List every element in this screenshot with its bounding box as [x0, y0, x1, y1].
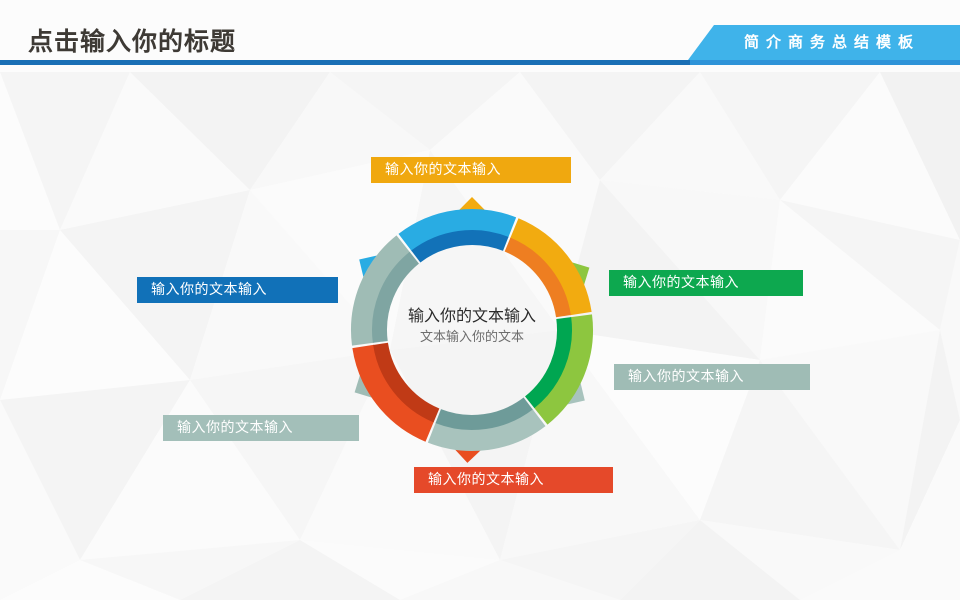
header-ribbon-label: 简介商务总结模板 — [688, 25, 960, 60]
callout-left-blue[interactable]: 输入你的文本输入 — [137, 277, 338, 303]
slide-canvas: 点击输入你的标题 简介商务总结模板 输入你的文本输入 文本输入你的文本 输入你的… — [0, 0, 960, 600]
inner-sector-left-blue[interactable] — [416, 238, 506, 257]
center-subtitle: 文本输入你的文本 — [362, 328, 582, 348]
callout-bottom-red[interactable]: 输入你的文本输入 — [414, 467, 613, 493]
header-rule-accent — [690, 60, 960, 65]
callout-left-teal[interactable]: 输入你的文本输入 — [163, 415, 359, 441]
center-title: 输入你的文本输入 — [362, 305, 582, 327]
callout-right-teal[interactable]: 输入你的文本输入 — [614, 364, 810, 390]
callout-top[interactable]: 输入你的文本输入 — [371, 157, 571, 183]
page-title: 点击输入你的标题 — [28, 22, 236, 58]
slide-header: 点击输入你的标题 简介商务总结模板 — [0, 0, 960, 72]
center-label-group: 输入你的文本输入 文本输入你的文本 — [362, 305, 582, 348]
arrow-tip-top — [458, 197, 485, 211]
inner-sector-right-teal[interactable] — [438, 403, 528, 422]
callout-right-green[interactable]: 输入你的文本输入 — [609, 270, 803, 296]
